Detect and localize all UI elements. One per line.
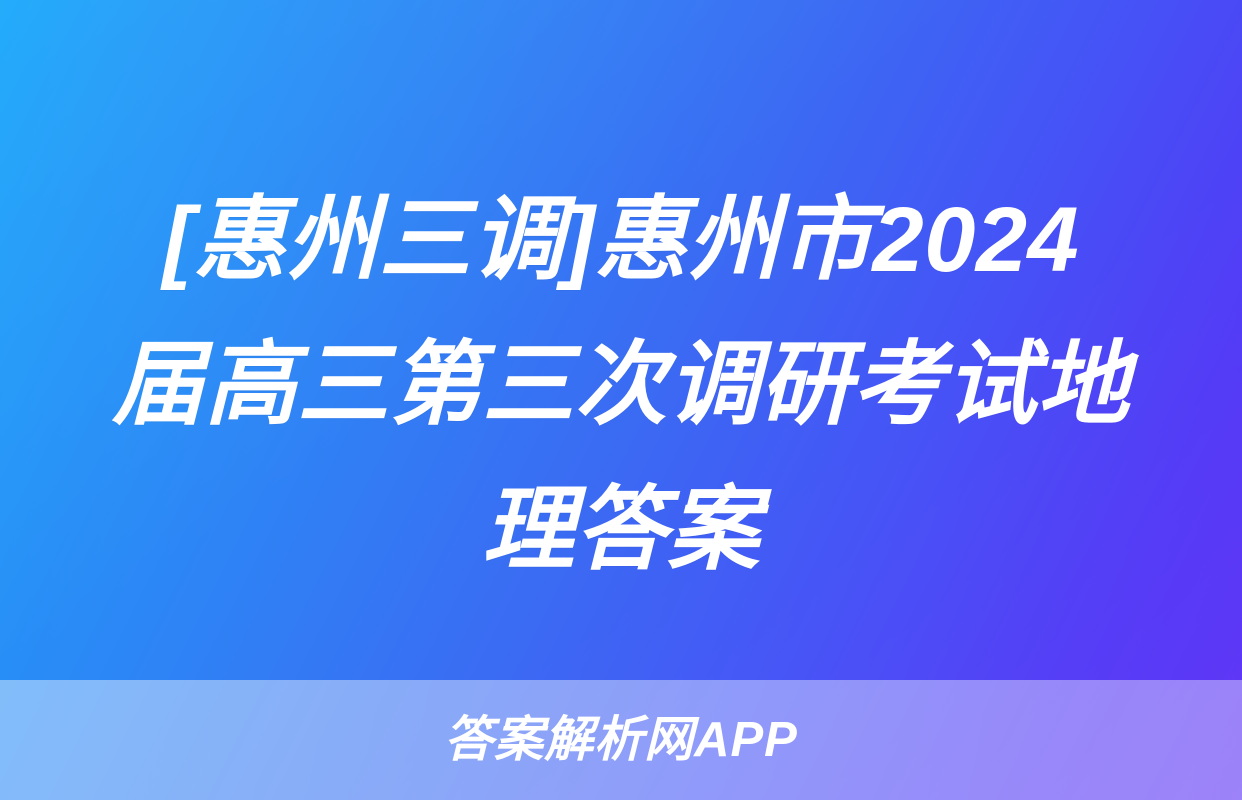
title-line-2: 届高三第三次调研考试地 [78,313,1164,458]
page-title: [惠州三调]惠州市2024 届高三第三次调研考试地 理答案 [0,168,1242,603]
title-line-1: [惠州三调]惠州市2024 [78,168,1164,313]
promo-card: [惠州三调]惠州市2024 届高三第三次调研考试地 理答案 答案解析网APP [0,0,1242,800]
footer-watermark-text: 答案解析网APP [444,716,798,765]
footer-watermark-band: 答案解析网APP [0,680,1242,800]
title-line-3: 理答案 [78,458,1164,603]
